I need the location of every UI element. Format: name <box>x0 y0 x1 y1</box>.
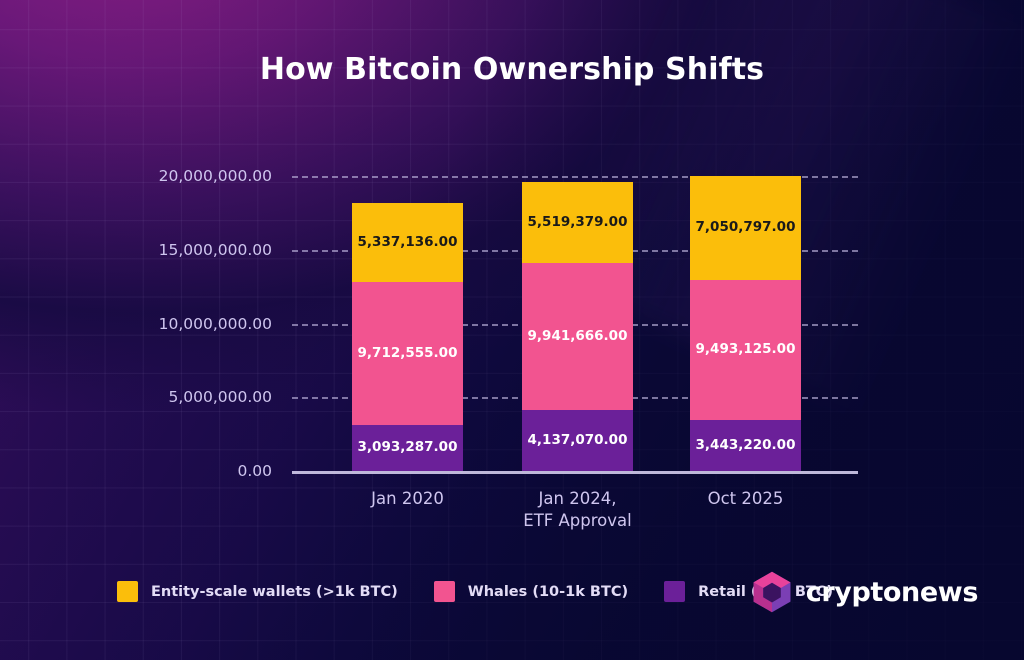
bar-segment[interactable]: 5,519,379.00 <box>522 182 633 263</box>
bar-value-label: 7,050,797.00 <box>696 221 796 235</box>
bar-value-label: 9,941,666.00 <box>528 330 628 344</box>
bar-segment[interactable]: 9,493,125.00 <box>690 280 801 420</box>
bar-segment[interactable]: 3,443,220.00 <box>690 420 801 471</box>
bar-group[interactable]: 3,443,220.009,493,125.007,050,797.00 <box>690 176 801 471</box>
y-axis-tick-label: 15,000,000.00 <box>0 241 272 259</box>
legend-label: Whales (10-1k BTC) <box>468 584 628 600</box>
bar-group[interactable]: 3,093,287.009,712,555.005,337,136.00 <box>352 176 463 471</box>
bar-segment[interactable]: 4,137,070.00 <box>522 410 633 471</box>
bar-value-label: 3,093,287.00 <box>358 441 458 455</box>
legend-item[interactable]: Entity-scale wallets (>1k BTC) <box>117 581 398 602</box>
cryptonews-wordmark: cryptonews <box>806 577 978 608</box>
bar-group[interactable]: 4,137,070.009,941,666.005,519,379.00 <box>522 176 633 471</box>
legend-item[interactable]: Whales (10-1k BTC) <box>434 581 628 602</box>
cryptonews-mark-icon <box>750 570 794 614</box>
bar-value-label: 9,712,555.00 <box>358 347 458 361</box>
bar-segment[interactable]: 3,093,287.00 <box>352 425 463 471</box>
bar-segment[interactable]: 9,941,666.00 <box>522 263 633 410</box>
bar-segment[interactable]: 9,712,555.00 <box>352 282 463 425</box>
legend-label: Entity-scale wallets (>1k BTC) <box>151 584 398 600</box>
y-axis-tick-label: 20,000,000.00 <box>0 167 272 185</box>
legend-swatch <box>117 581 138 602</box>
bar-segment[interactable]: 7,050,797.00 <box>690 176 801 280</box>
brand-logo: cryptonews <box>750 570 978 614</box>
plot-area: 3,093,287.009,712,555.005,337,136.004,13… <box>292 176 858 471</box>
legend-swatch <box>434 581 455 602</box>
gridline <box>292 471 858 474</box>
bar-value-label: 5,519,379.00 <box>528 216 628 230</box>
bar-value-label: 3,443,220.00 <box>696 439 796 453</box>
chart-title: How Bitcoin Ownership Shifts <box>0 52 1024 87</box>
y-axis-tick-label: 5,000,000.00 <box>0 388 272 406</box>
bar-segment[interactable]: 5,337,136.00 <box>352 203 463 282</box>
y-axis-tick-label: 0.00 <box>0 462 272 480</box>
y-axis-tick-label: 10,000,000.00 <box>0 315 272 333</box>
bar-value-label: 4,137,070.00 <box>528 434 628 448</box>
legend-swatch <box>664 581 685 602</box>
bar-value-label: 5,337,136.00 <box>358 236 458 250</box>
chart-canvas: How Bitcoin Ownership Shifts 20,000,000.… <box>0 0 1024 660</box>
x-axis-category-label: Oct 2025 <box>636 488 856 510</box>
bar-value-label: 9,493,125.00 <box>696 343 796 357</box>
